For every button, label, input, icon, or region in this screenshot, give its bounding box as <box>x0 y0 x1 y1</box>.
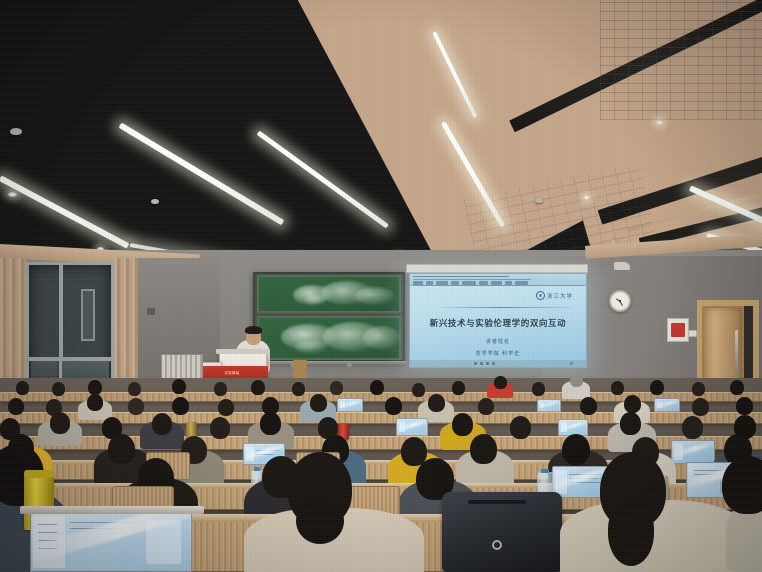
audience-head <box>682 416 703 439</box>
audience-head <box>292 382 305 396</box>
chalkboard-lower <box>257 316 401 360</box>
audience-head <box>428 394 445 412</box>
audience-head <box>692 398 709 416</box>
audience-head <box>128 382 141 396</box>
audience-head <box>570 374 583 387</box>
audience-head <box>532 382 545 396</box>
ponytail <box>608 500 654 566</box>
tumbler-lid <box>24 470 54 478</box>
wall-control-panel <box>147 308 155 315</box>
audience-head <box>692 382 705 396</box>
slide-taskbar <box>410 360 586 367</box>
laptop <box>671 440 715 464</box>
lectern-top <box>216 349 270 354</box>
audience-head <box>370 380 384 395</box>
audience-head <box>128 398 144 415</box>
laptop <box>396 418 428 436</box>
audience-head <box>310 394 327 412</box>
smoke-detector-icon <box>10 128 22 135</box>
audience-head <box>52 382 65 396</box>
chalk-tray <box>252 361 407 365</box>
backpack-clip-icon <box>492 540 502 550</box>
lecture-hall-photo: 浙江大学 新兴技术与实验伦理学的双向互动 讲者姓名 哲学学院 科学史 讲座横幅 <box>0 0 762 572</box>
audience-head <box>172 397 189 415</box>
audience-head <box>87 394 103 411</box>
university-logo: 浙江大学 <box>536 291 573 300</box>
audience-head <box>260 412 281 435</box>
screen-housing <box>406 264 588 273</box>
audience-head <box>88 380 102 395</box>
audience-head <box>736 397 753 415</box>
chalkboard-upper <box>257 275 401 313</box>
audience-head <box>412 383 425 397</box>
window <box>26 262 114 394</box>
audience-head <box>580 397 597 415</box>
downlight-icon <box>8 192 17 197</box>
audience-head <box>494 376 507 389</box>
light-switch-plate[interactable] <box>688 330 697 337</box>
backpack-zipper <box>468 500 526 504</box>
audience-head <box>218 399 234 416</box>
audience-head <box>730 380 744 395</box>
slide-title: 新兴技术与实验伦理学的双向互动 <box>410 317 586 329</box>
laptop-foreground[interactable] <box>30 512 192 572</box>
audience-head <box>152 413 172 435</box>
smoke-detector-icon <box>151 199 159 204</box>
audience-head <box>251 380 265 395</box>
audience-head <box>562 434 590 465</box>
smoke-detector-icon <box>535 198 543 203</box>
audience-head <box>210 417 230 439</box>
door-handle-icon[interactable] <box>735 330 738 376</box>
eraser-icon <box>347 363 352 367</box>
audience-head <box>16 381 29 395</box>
audience-head <box>330 381 343 395</box>
audience-head <box>470 434 497 464</box>
audience-head <box>611 381 624 395</box>
security-camera-icon <box>614 262 630 270</box>
audience-head <box>8 398 24 415</box>
downlight-icon <box>583 195 590 200</box>
laptop <box>654 398 680 412</box>
slide-presenter: 讲者姓名 <box>410 338 586 345</box>
audience-head <box>452 413 473 436</box>
slide-affiliation: 哲学学院 科学史 <box>410 350 586 357</box>
safety-notice-sign <box>667 318 689 342</box>
university-emblem-icon <box>536 291 545 300</box>
audience-head <box>624 395 641 413</box>
audience-head <box>478 398 494 415</box>
downlight-icon <box>655 120 664 125</box>
audience-head <box>385 397 402 415</box>
audience-head <box>214 382 227 396</box>
ceiling <box>0 0 762 278</box>
projection-screen: 浙江大学 新兴技术与实验伦理学的双向互动 讲者姓名 哲学学院 科学史 <box>409 273 587 368</box>
laptop <box>337 398 363 412</box>
audience-head <box>510 416 531 439</box>
audience-head <box>108 434 135 464</box>
laptop-lid-edge <box>20 506 204 514</box>
audience-head <box>650 380 664 395</box>
hair-bun <box>296 498 344 544</box>
presenter-hair <box>245 326 262 334</box>
podium-banner-text: 讲座横幅 <box>224 371 239 376</box>
audience-head <box>452 381 465 395</box>
backpack <box>442 492 562 572</box>
wall-clock <box>609 290 631 312</box>
university-name: 浙江大学 <box>547 292 573 300</box>
laptop <box>537 399 561 412</box>
audience-head <box>172 379 186 394</box>
audience-head <box>620 412 641 435</box>
audience-head <box>50 412 70 434</box>
audience-head-foreground <box>722 456 762 514</box>
